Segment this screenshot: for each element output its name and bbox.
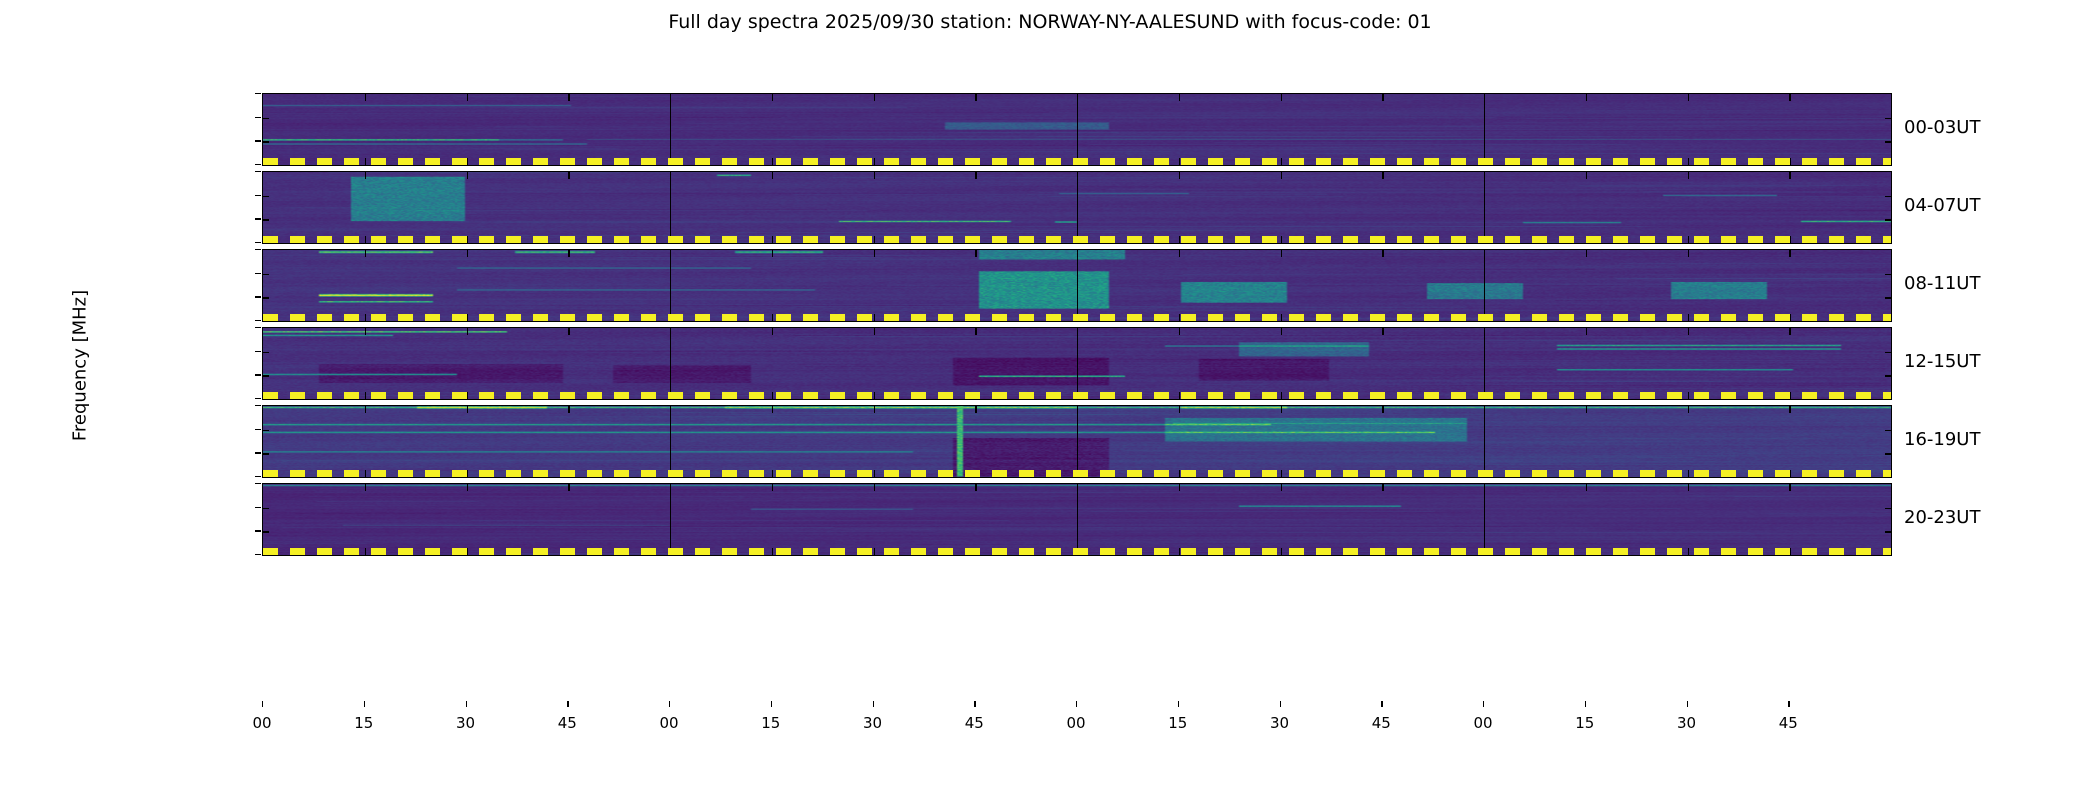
x-tick-mark [669,701,670,707]
panel-minor-tick [1586,470,1587,477]
y-tick-mark [255,296,261,297]
panel-major-gridline [1077,94,1078,165]
y-tick-mark [255,327,261,328]
panel-minor-tick [1382,250,1383,257]
panel-minor-tick [1789,484,1790,491]
panel-minor-tick [1688,236,1689,243]
y-tick-mark [255,242,261,243]
panel-minor-tick [365,470,366,477]
panel-minor-tick [1382,172,1383,179]
panel-minor-tick [975,158,976,165]
y-tick-mark [255,164,261,165]
panel-minor-tick [568,548,569,555]
panel-minor-tick [1586,94,1587,101]
panel-major-gridline [670,484,671,555]
panel-minor-tick [568,392,569,399]
panel-minor-tick [1281,548,1282,555]
panel-minor-tick [975,484,976,491]
panel-major-gridline [1484,172,1485,243]
panel-minor-tick [365,406,366,413]
panel-minor-tick [874,484,875,491]
x-tick-mark [567,701,568,707]
panel-minor-tick [975,314,976,321]
panel-minor-tick [1586,314,1587,321]
panel-minor-tick [975,470,976,477]
panel-minor-tick [365,250,366,257]
panel-minor-tick [1586,548,1587,555]
x-tick-mark [1280,701,1281,707]
x-tick-mark [466,701,467,707]
x-tick-label: 00 [1463,714,1503,732]
panel-minor-tick [1281,236,1282,243]
panel-minor-tick [1688,314,1689,321]
panel-minor-tick [1688,158,1689,165]
panel-minor-tick [874,392,875,399]
panel-minor-tick [1179,484,1180,491]
panel-major-gridline [1077,328,1078,399]
x-tick-label: 00 [1056,714,1096,732]
panel-y-tick [1885,219,1891,220]
x-tick-label: 15 [751,714,791,732]
panel-minor-tick [1281,328,1282,335]
panel-minor-tick [1688,392,1689,399]
panel-minor-tick [467,158,468,165]
panel-y-tick [263,196,269,197]
panel-minor-tick [1789,158,1790,165]
panel-minor-tick [1179,406,1180,413]
panel-major-gridline [1484,406,1485,477]
panel-minor-tick [467,172,468,179]
panel-minor-tick [772,94,773,101]
y-tick-mark [255,351,261,352]
panel-minor-tick [772,172,773,179]
panel-minor-tick [874,250,875,257]
panel-minor-tick [1382,314,1383,321]
panel-minor-tick [1281,250,1282,257]
panel-time-label-00-03ut: 00-03UT [1904,117,1980,138]
panel-y-tick [1885,453,1891,454]
panel-minor-tick [1382,392,1383,399]
panel-minor-tick [1586,392,1587,399]
panel-minor-tick [975,328,976,335]
panel-y-tick [263,219,269,220]
panel-minor-tick [1382,94,1383,101]
panel-major-gridline [1077,484,1078,555]
spectrogram-panel-08-11ut [262,249,1892,322]
panel-minor-tick [467,484,468,491]
panel-minor-tick [568,406,569,413]
y-tick-mark [255,171,261,172]
panel-minor-tick [1789,236,1790,243]
panel-minor-tick [1789,470,1790,477]
panel-minor-tick [772,250,773,257]
panel-minor-tick [1179,94,1180,101]
panel-y-tick [263,375,269,376]
panel-time-label-12-15ut: 12-15UT [1904,351,1980,372]
y-tick-mark [255,195,261,196]
panel-minor-tick [1382,236,1383,243]
panel-minor-tick [568,250,569,257]
panel-major-gridline [1077,172,1078,243]
panel-minor-tick [772,548,773,555]
panel-minor-tick [467,406,468,413]
panel-time-label-08-11ut: 08-11UT [1904,273,1980,294]
panel-minor-tick [772,314,773,321]
y-tick-mark [255,273,261,274]
panel-time-label-20-23ut: 20-23UT [1904,507,1980,528]
panel-minor-tick [467,328,468,335]
y-tick-mark [255,398,261,399]
x-tick-label: 00 [649,714,689,732]
panel-minor-tick [1586,172,1587,179]
y-tick-mark [255,93,261,94]
panel-minor-tick [568,328,569,335]
panel-minor-tick [467,236,468,243]
y-tick-mark [255,405,261,406]
x-tick-mark [1076,701,1077,707]
panel-y-tick [1885,141,1891,142]
x-tick-label: 15 [1158,714,1198,732]
panel-minor-tick [874,314,875,321]
spectrogram-panel-20-23ut [262,483,1892,556]
panel-y-tick [263,508,269,509]
panel-minor-tick [568,236,569,243]
panel-minor-tick [568,470,569,477]
y-tick-mark [255,483,261,484]
panel-y-tick [1885,508,1891,509]
x-tick-mark [1585,701,1586,707]
panel-minor-tick [874,406,875,413]
y-tick-mark [255,476,261,477]
spectrogram-panel-00-03ut [262,93,1892,166]
panel-minor-tick [874,94,875,101]
x-tick-label: 30 [446,714,486,732]
x-tick-label: 30 [1260,714,1300,732]
x-tick-mark [974,701,975,707]
panel-minor-tick [365,172,366,179]
panel-minor-tick [1179,158,1180,165]
panel-minor-tick [1586,158,1587,165]
panel-minor-tick [467,548,468,555]
panel-y-tick [263,274,269,275]
panel-minor-tick [772,236,773,243]
panel-y-tick [1885,430,1891,431]
panel-minor-tick [1179,314,1180,321]
x-tick-label: 45 [547,714,587,732]
panel-time-label-16-19ut: 16-19UT [1904,429,1980,450]
panel-time-label-04-07ut: 04-07UT [1904,195,1980,216]
panel-minor-tick [568,94,569,101]
panel-minor-tick [568,158,569,165]
panel-minor-tick [1179,392,1180,399]
panel-minor-tick [1281,94,1282,101]
panel-minor-tick [1789,328,1790,335]
panel-y-tick [1885,196,1891,197]
panel-minor-tick [975,548,976,555]
panel-minor-tick [568,484,569,491]
x-tick-mark [1788,701,1789,707]
panel-minor-tick [1789,548,1790,555]
x-tick-mark [1687,701,1688,707]
x-tick-label: 45 [1361,714,1401,732]
y-tick-mark [255,218,261,219]
panel-y-tick [1885,352,1891,353]
panel-y-tick [263,430,269,431]
panel-major-gridline [1484,94,1485,165]
y-tick-mark [255,117,261,118]
x-tick-label: 15 [344,714,384,732]
panel-minor-tick [874,172,875,179]
panel-minor-tick [365,548,366,555]
panel-minor-tick [1382,484,1383,491]
y-tick-mark [255,554,261,555]
panel-minor-tick [1179,250,1180,257]
panel-minor-tick [1789,94,1790,101]
x-tick-label: 00 [242,714,282,732]
x-tick-mark [262,701,263,707]
panel-minor-tick [1281,314,1282,321]
x-tick-label: 15 [1565,714,1605,732]
spectrogram-panel-04-07ut [262,171,1892,244]
panel-minor-tick [467,470,468,477]
panel-minor-tick [1382,470,1383,477]
panel-major-gridline [1484,328,1485,399]
panel-minor-tick [568,172,569,179]
panel-y-tick [1885,274,1891,275]
panel-minor-tick [1688,484,1689,491]
panel-minor-tick [365,314,366,321]
panel-minor-tick [1179,172,1180,179]
panel-minor-tick [975,94,976,101]
panel-minor-tick [874,328,875,335]
panel-minor-tick [772,406,773,413]
panel-minor-tick [1179,328,1180,335]
panel-y-tick [1885,531,1891,532]
panel-major-gridline [1077,250,1078,321]
panel-minor-tick [874,470,875,477]
panel-y-tick [263,352,269,353]
panel-minor-tick [772,484,773,491]
panel-minor-tick [568,314,569,321]
panel-minor-tick [772,158,773,165]
y-tick-mark [255,320,261,321]
x-tick-mark [1381,701,1382,707]
panel-major-gridline [670,406,671,477]
panel-minor-tick [467,94,468,101]
spectrogram-figure: Full day spectra 2025/09/30 station: NOR… [0,0,2100,800]
x-tick-label: 30 [1667,714,1707,732]
panel-y-tick [263,118,269,119]
panel-minor-tick [467,314,468,321]
y-axis-label: Frequency [MHz] [70,216,91,516]
y-tick-mark [255,249,261,250]
panel-minor-tick [1789,250,1790,257]
panel-minor-tick [1789,314,1790,321]
panel-minor-tick [1688,250,1689,257]
panel-minor-tick [1382,328,1383,335]
x-tick-mark [364,701,365,707]
panel-major-gridline [1077,406,1078,477]
panel-minor-tick [1586,328,1587,335]
x-tick-label: 45 [1768,714,1808,732]
panel-minor-tick [1382,548,1383,555]
panel-minor-tick [874,548,875,555]
panel-y-tick [263,531,269,532]
panel-minor-tick [1179,548,1180,555]
panel-minor-tick [1688,470,1689,477]
panel-minor-tick [975,392,976,399]
panel-major-gridline [670,328,671,399]
y-tick-mark [255,140,261,141]
panel-minor-tick [1281,392,1282,399]
panel-minor-tick [365,392,366,399]
panel-minor-tick [975,236,976,243]
spectrogram-panel-16-19ut [262,405,1892,478]
panel-minor-tick [1789,172,1790,179]
panel-minor-tick [1586,236,1587,243]
panel-minor-tick [772,392,773,399]
x-tick-mark [1178,701,1179,707]
panel-minor-tick [1789,406,1790,413]
panel-minor-tick [1586,484,1587,491]
panel-minor-tick [1688,548,1689,555]
panel-minor-tick [1688,172,1689,179]
panel-y-tick [1885,118,1891,119]
y-tick-mark [255,507,261,508]
panel-minor-tick [1281,406,1282,413]
panel-y-tick [263,453,269,454]
panel-minor-tick [975,172,976,179]
panel-minor-tick [772,470,773,477]
x-tick-label: 45 [954,714,994,732]
panel-y-tick [1885,297,1891,298]
x-tick-label: 30 [853,714,893,732]
panel-minor-tick [1281,172,1282,179]
panel-minor-tick [1382,158,1383,165]
panel-minor-tick [975,250,976,257]
panel-major-gridline [670,94,671,165]
panel-y-tick [1885,375,1891,376]
panel-major-gridline [670,172,671,243]
panel-minor-tick [1789,392,1790,399]
spectrogram-panel-12-15ut [262,327,1892,400]
panel-y-tick [263,297,269,298]
y-tick-mark [255,530,261,531]
panel-minor-tick [365,158,366,165]
y-tick-mark [255,452,261,453]
panel-minor-tick [365,236,366,243]
figure-title: Full day spectra 2025/09/30 station: NOR… [0,11,2100,33]
panel-minor-tick [1688,328,1689,335]
panel-major-gridline [670,250,671,321]
x-tick-mark [771,701,772,707]
panel-minor-tick [874,236,875,243]
panel-minor-tick [874,158,875,165]
panel-major-gridline [1484,484,1485,555]
panel-minor-tick [1281,158,1282,165]
panel-minor-tick [1688,94,1689,101]
panel-minor-tick [1179,236,1180,243]
x-tick-mark [1483,701,1484,707]
panel-minor-tick [467,392,468,399]
panel-minor-tick [1586,406,1587,413]
panel-minor-tick [365,94,366,101]
panel-minor-tick [975,406,976,413]
panel-minor-tick [1688,406,1689,413]
panel-major-gridline [1484,250,1485,321]
y-tick-mark [255,374,261,375]
panel-minor-tick [1281,484,1282,491]
panel-minor-tick [1382,406,1383,413]
panel-minor-tick [365,328,366,335]
panel-minor-tick [1586,250,1587,257]
panel-minor-tick [467,250,468,257]
x-tick-mark [873,701,874,707]
panel-minor-tick [365,484,366,491]
panel-minor-tick [772,328,773,335]
y-tick-mark [255,429,261,430]
panel-y-tick [263,141,269,142]
panel-minor-tick [1179,470,1180,477]
panel-minor-tick [1281,470,1282,477]
